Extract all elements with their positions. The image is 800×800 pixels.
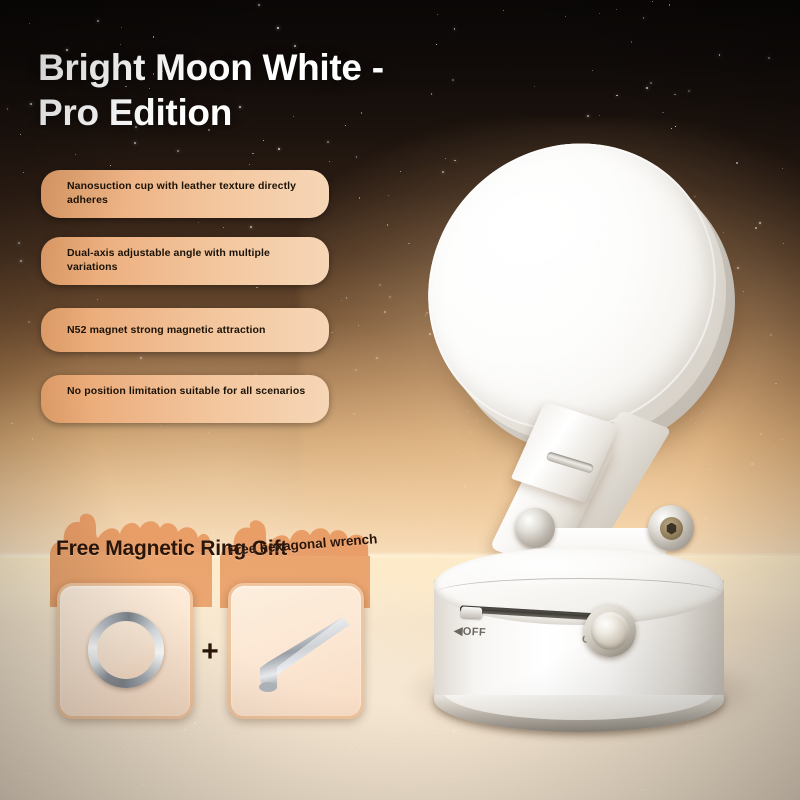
- magnetic-ring-icon: [88, 612, 164, 688]
- hex-socket-icon: [660, 517, 683, 540]
- plus-combiner: +: [193, 635, 227, 669]
- pivot-left-icon: [515, 508, 555, 548]
- switch-off-label: ◀OFF: [454, 624, 487, 639]
- lamp-product-image: ◀OFF ON: [398, 110, 770, 750]
- product-ad-canvas: Bright Moon White - Pro Edition Nanosuct…: [0, 0, 800, 800]
- rotary-knob[interactable]: [584, 605, 636, 657]
- switch-slider-handle[interactable]: [461, 606, 483, 618]
- base-seam: [436, 578, 722, 608]
- feature-pill-n52-magnet: N52 magnet strong magnetic attraction: [41, 308, 329, 352]
- title-line-2: Pro Edition: [38, 90, 458, 135]
- page-title: Bright Moon White - Pro Edition: [38, 45, 458, 135]
- feature-pill-nanosuction: Nanosuction cup with leather texture dir…: [41, 170, 329, 218]
- feature-pill-dual-axis: Dual-axis adjustable angle with multiple…: [41, 237, 329, 285]
- hex-wrench-icon: [246, 600, 350, 702]
- feature-pill-no-position-limit: No position limitation suitable for all …: [41, 375, 329, 423]
- title-line-1: Bright Moon White -: [38, 45, 458, 90]
